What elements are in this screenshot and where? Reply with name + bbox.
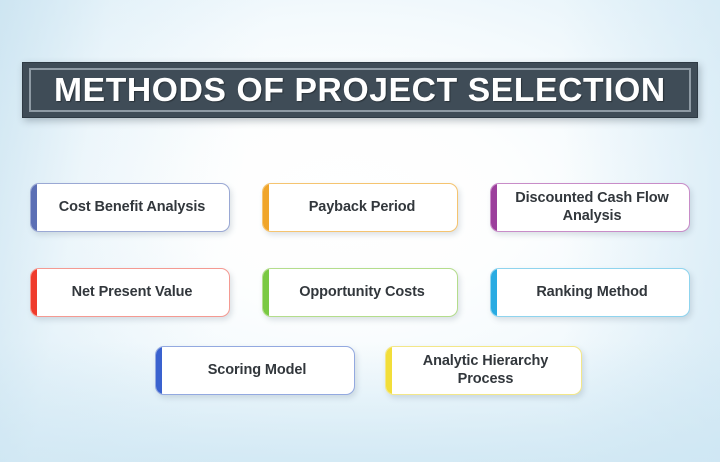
method-box-analytic-hierarchy-process[interactable]: Analytic Hierarchy Process — [385, 346, 582, 395]
method-label: Ranking Method — [516, 284, 663, 301]
accent-bar — [491, 269, 497, 316]
method-box-net-present-value[interactable]: Net Present Value — [30, 268, 230, 317]
method-label: Discounted Cash Flow Analysis — [491, 190, 689, 224]
accent-bar — [263, 184, 269, 231]
method-box-payback-period[interactable]: Payback Period — [262, 183, 458, 232]
page-title: METHODS OF PROJECT SELECTION — [54, 71, 666, 109]
method-label: Analytic Hierarchy Process — [386, 353, 581, 387]
method-label: Scoring Model — [188, 362, 323, 379]
method-label: Payback Period — [289, 199, 432, 216]
accent-bar — [31, 184, 37, 231]
method-label: Cost Benefit Analysis — [39, 199, 221, 216]
method-box-ranking-method[interactable]: Ranking Method — [490, 268, 690, 317]
method-box-discounted-cash-flow-analysis[interactable]: Discounted Cash Flow Analysis — [490, 183, 690, 232]
method-box-opportunity-costs[interactable]: Opportunity Costs — [262, 268, 458, 317]
title-inner-border: METHODS OF PROJECT SELECTION — [29, 68, 691, 112]
accent-bar — [156, 347, 162, 394]
method-box-scoring-model[interactable]: Scoring Model — [155, 346, 355, 395]
method-box-cost-benefit-analysis[interactable]: Cost Benefit Analysis — [30, 183, 230, 232]
title-banner: METHODS OF PROJECT SELECTION — [22, 62, 698, 118]
infographic-canvas: METHODS OF PROJECT SELECTION Cost Benefi… — [0, 0, 720, 462]
method-label: Opportunity Costs — [279, 284, 441, 301]
accent-bar — [31, 269, 37, 316]
method-label: Net Present Value — [52, 284, 209, 301]
accent-bar — [263, 269, 269, 316]
